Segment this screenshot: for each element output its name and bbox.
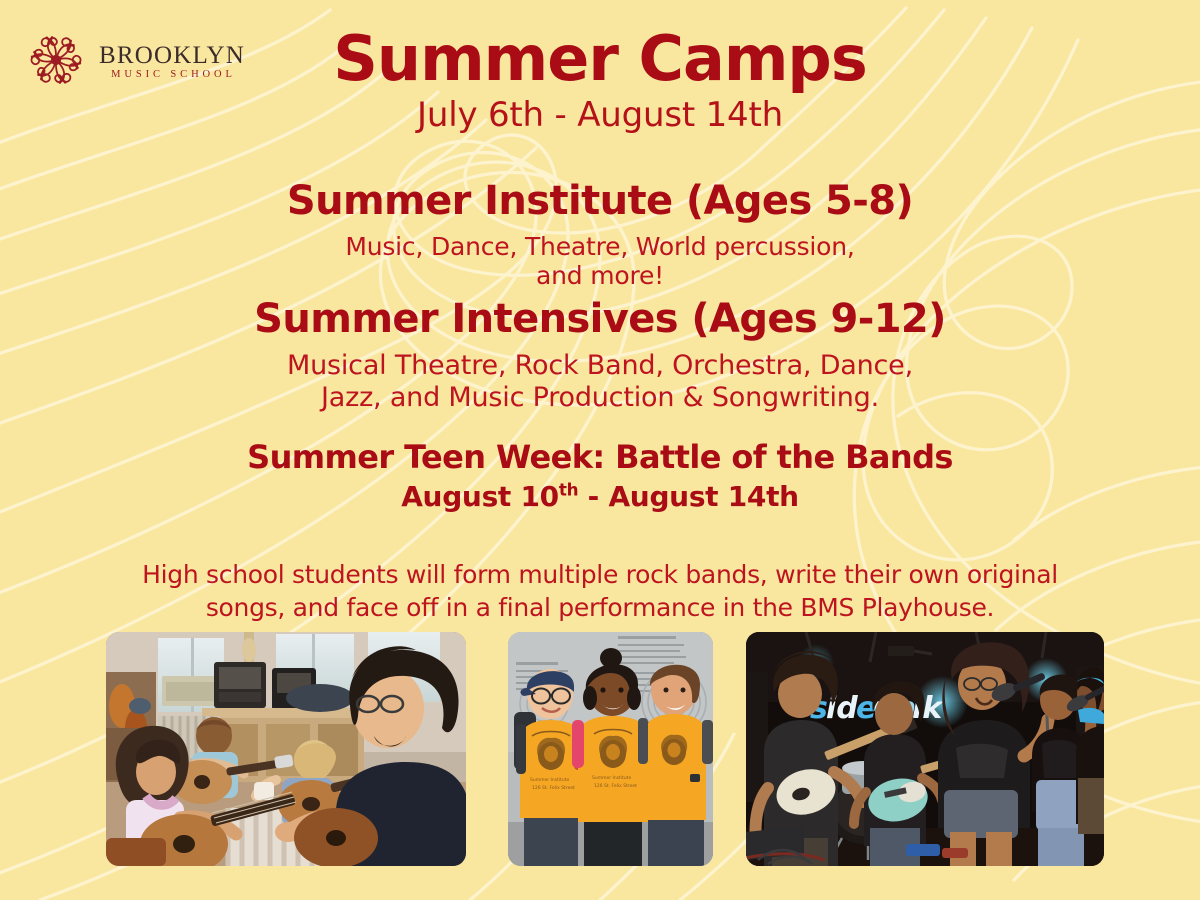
program-summer-intensives: Summer Intensives (Ages 9-12) Musical Th… xyxy=(0,298,1200,413)
svg-text:Summer Institute: Summer Institute xyxy=(530,777,569,783)
header-date-range: July 6th - August 14th xyxy=(0,97,1200,134)
program-heading: Summer Intensives (Ages 9-12) xyxy=(0,298,1200,341)
photo-teen-band[interactable]: s id e w a lk xyxy=(746,632,1104,866)
svg-text:id: id xyxy=(826,691,858,726)
photo-guitar-class[interactable] xyxy=(106,632,466,866)
program-heading: Summer Teen Week: Battle of the Bands xyxy=(0,440,1200,475)
page-title: Summer Camps xyxy=(0,26,1200,91)
program-description: Music, Dance, Theatre, World percussion,… xyxy=(0,232,1200,290)
svg-text:Summer Institute: Summer Institute xyxy=(592,775,631,781)
program-heading: Summer Institute (Ages 5-8) xyxy=(0,180,1200,223)
teen-week-date-separator: - xyxy=(578,480,608,513)
photo-campers[interactable]: Summer Institute 126 St. Felix Street xyxy=(508,632,713,866)
program-summer-teen-week: Summer Teen Week: Battle of the Bands Au… xyxy=(0,440,1200,512)
program-summer-institute: Summer Institute (Ages 5-8) Music, Dance… xyxy=(0,180,1200,290)
svg-text:126 St. Felix Street: 126 St. Felix Street xyxy=(532,785,575,791)
teen-week-description: High school students will form multiple … xyxy=(100,558,1100,624)
teen-week-date-start-ordinal: th xyxy=(559,479,578,499)
program-description: Musical Theatre, Rock Band, Orchestra, D… xyxy=(0,350,1200,413)
teen-week-date-end: August 14th xyxy=(608,480,798,513)
header-block: Summer Camps July 6th - August 14th xyxy=(0,26,1200,134)
teen-week-date-start: August 10 xyxy=(401,480,559,513)
photo-gallery: Summer Institute 126 St. Felix Street xyxy=(0,632,1200,866)
svg-text:126 St. Felix Street: 126 St. Felix Street xyxy=(594,783,637,789)
flyer-canvas: BROOKLYN MUSIC SCHOOL Summer Camps July … xyxy=(0,0,1200,900)
teen-week-date-range: August 10th - August 14th xyxy=(0,482,1200,513)
